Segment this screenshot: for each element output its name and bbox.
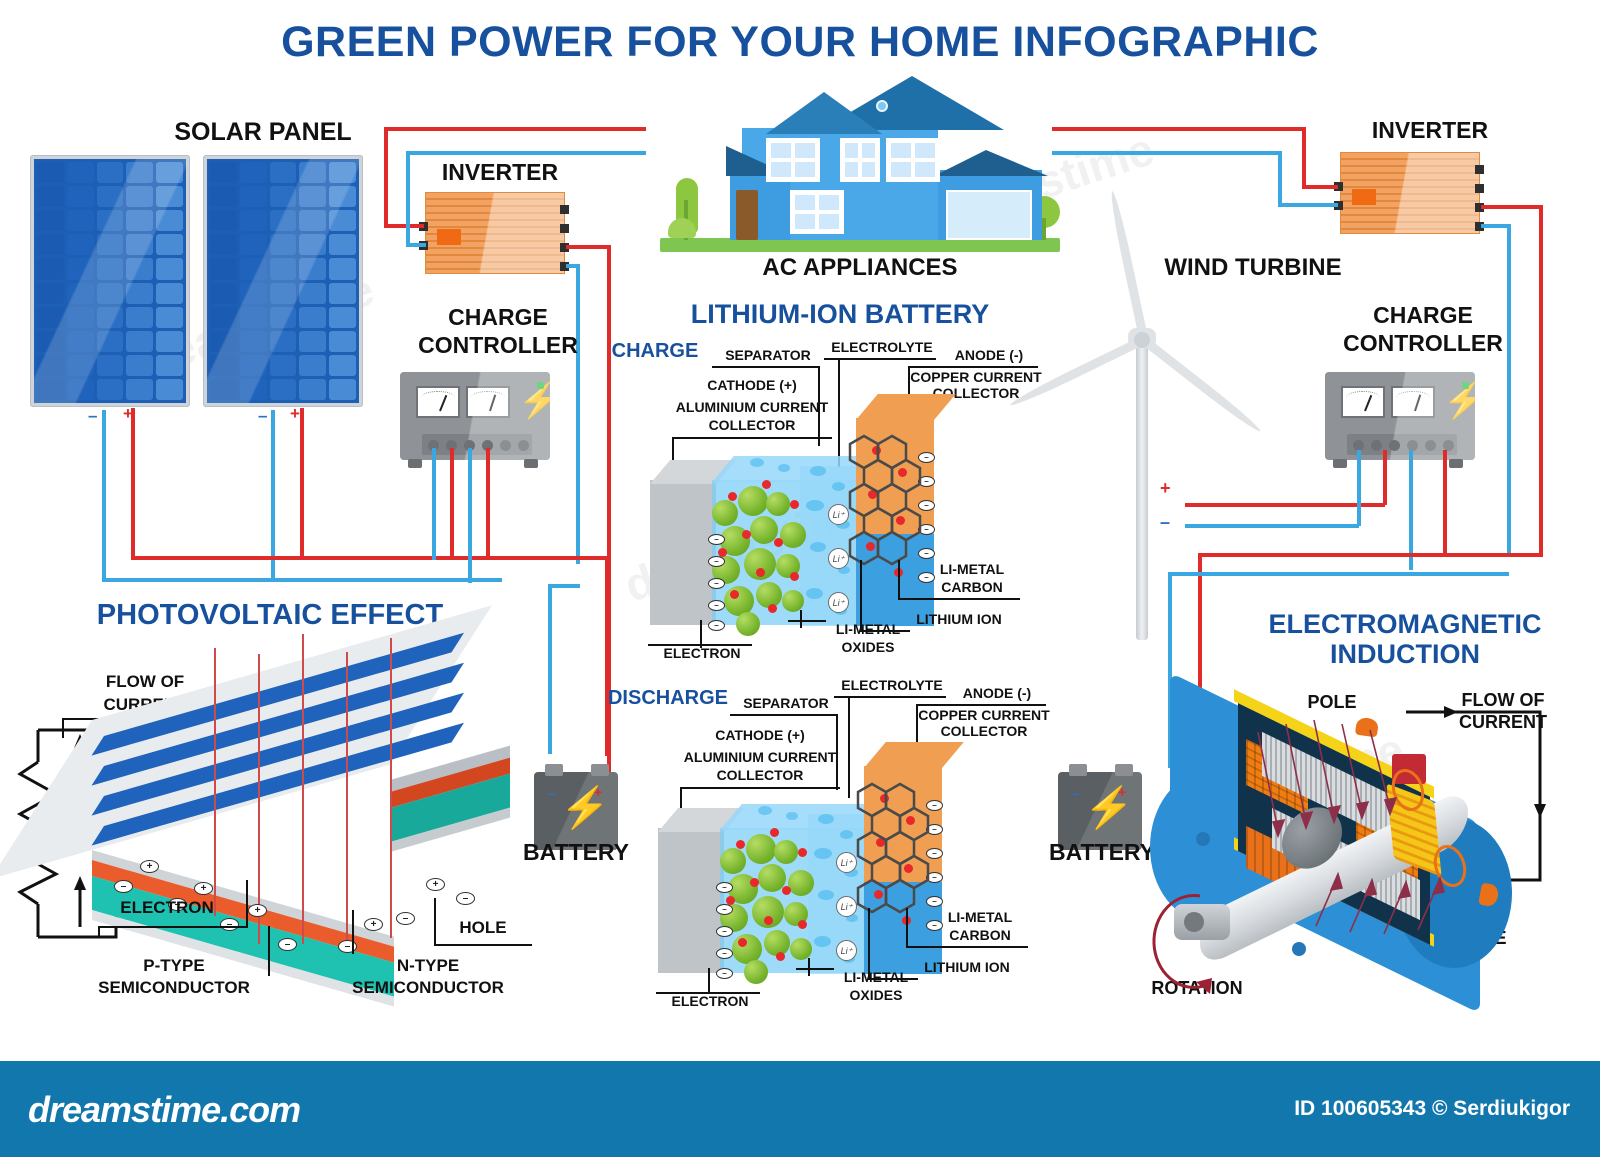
- charge-mode-label: CHARGE: [600, 341, 710, 363]
- controller-foot: [1449, 459, 1463, 468]
- house-lawn: [660, 238, 1060, 252]
- wire-panels-negative-bus: [102, 578, 502, 582]
- lithium-ion-marker: Li⁺: [836, 940, 857, 961]
- pv-electron-label: ELECTRON: [92, 898, 242, 917]
- electron-marker: –: [708, 556, 725, 567]
- house-window: [766, 138, 820, 182]
- turbine-negative-sign: –: [1160, 512, 1170, 533]
- photovoltaic-effect-title: PHOTOVOLTAIC EFFECT: [90, 600, 450, 631]
- hole-carrier: +: [248, 904, 267, 917]
- discharge-limetal-carbon-line1: LI-METAL: [932, 910, 1028, 926]
- hole-carrier: +: [426, 878, 445, 891]
- induction-title-line1: ELECTROMAGNETIC: [1215, 610, 1595, 639]
- right-controller-title-line1: CHARGE: [1318, 303, 1528, 329]
- controller-terminal-screw: [1389, 440, 1400, 451]
- electron-carrier: –: [114, 880, 133, 893]
- photon-ray: [214, 648, 216, 916]
- wire-left-ac-positive-in: [384, 224, 424, 228]
- discharge-aluminium-line1: ALUMINIUM CURRENT: [674, 750, 846, 766]
- discharge-anode-label: ANODE (-): [948, 686, 1046, 702]
- left-controller-title-line1: CHARGE: [398, 305, 598, 331]
- discharge-separator-label: SEPARATOR: [730, 696, 842, 712]
- discharge-electrolyte-label: ELECTROLYTE: [834, 678, 950, 694]
- wire-left-battery-positive-drop: [605, 556, 609, 756]
- pv-n-type-line1: N-TYPE: [338, 956, 518, 975]
- solar-panel-left: [30, 155, 190, 407]
- electron-marker: –: [708, 578, 725, 589]
- wind-turbine-label: WIND TURBINE: [1148, 255, 1358, 282]
- discharge-lithium-ion-label: LITHIUM ION: [910, 960, 1024, 976]
- controller-foot: [1333, 459, 1347, 468]
- wire-left-ac-negative: [406, 151, 646, 155]
- battery-minus-sign: –: [1072, 786, 1079, 801]
- wire-right-ac-positive-drop: [1302, 127, 1306, 185]
- charge-limetal-oxides-line2: OXIDES: [820, 640, 916, 656]
- wire-right-ac-negative: [1052, 151, 1282, 155]
- pv-n-type-line2: SEMICONDUCTOR: [338, 978, 518, 997]
- left-inverter-title: INVERTER: [400, 160, 600, 186]
- house-roof-gable: [766, 92, 882, 134]
- wire-right-controller-out-negative: [1409, 450, 1413, 570]
- electron-carrier: –: [220, 918, 239, 931]
- controller-foot: [408, 459, 422, 468]
- discharge-electron-label: ELECTRON: [656, 994, 764, 1010]
- wire-right-ac-positive: [1052, 127, 1306, 131]
- garage-door: [946, 190, 1032, 240]
- panel-right-plus-terminal: +: [290, 404, 300, 424]
- photon-ray: [346, 652, 348, 952]
- hole-carrier: +: [140, 860, 159, 873]
- inverter-output-pin: [1475, 165, 1484, 174]
- wire-right-controller-out-positive: [1443, 450, 1447, 554]
- panel-right-minus-terminal: –: [258, 406, 267, 426]
- wire-right-ac-negative-in: [1278, 203, 1338, 207]
- controller-foot: [524, 459, 538, 468]
- wire-right-inv-out-red-drop: [1539, 205, 1543, 555]
- left-controller-title-line2: CONTROLLER: [398, 333, 598, 359]
- wire-left-ac-negative-in: [406, 243, 426, 247]
- wire-left-ac-positive-drop: [384, 127, 388, 227]
- wire-panel-right-positive: [300, 408, 304, 558]
- discharge-mode-label: DISCHARGE: [598, 688, 738, 710]
- charge-electron-label: ELECTRON: [648, 646, 756, 662]
- pv-hole-label: HOLE: [438, 918, 528, 937]
- discharge-limetal-carbon-line2: CARBON: [932, 928, 1028, 944]
- controller-terminal-screw: [1371, 440, 1382, 451]
- charge-lithium-ion-label: LITHIUM ION: [902, 612, 1016, 628]
- electron-marker: –: [716, 968, 733, 979]
- magnetic-flux-arrows: [1220, 720, 1520, 950]
- charge-electrolyte-label: ELECTROLYTE: [824, 340, 940, 356]
- wire-right-inv-out-red: [1481, 205, 1543, 209]
- charge-separator-label: SEPARATOR: [712, 348, 824, 364]
- house-door: [736, 190, 758, 240]
- charge-aluminium-line1: ALUMINIUM CURRENT: [666, 400, 838, 416]
- battery-terminal-cap: [1069, 764, 1087, 776]
- electron-marker: –: [716, 948, 733, 959]
- charge-cathode-label: CATHODE (+): [690, 378, 814, 394]
- battery-plus-sign: +: [1118, 784, 1126, 800]
- controller-terminal-screw: [518, 440, 529, 451]
- hole-carrier: +: [364, 918, 383, 931]
- discharge-cathode-label: CATHODE (+): [698, 728, 822, 744]
- pv-p-type-line2: SEMICONDUCTOR: [84, 978, 264, 997]
- photon-ray: [258, 654, 260, 944]
- wire-right-battery-positive-bus: [1198, 553, 1543, 557]
- dreamstime-logo: dreamstime.com: [28, 1089, 300, 1131]
- discharge-copper-collector-line2: COLLECTOR: [916, 724, 1052, 740]
- charge-limetal-carbon-line1: LI-METAL: [924, 562, 1020, 578]
- wire-controller-out-negative: [468, 448, 472, 583]
- electron-marker: –: [716, 882, 733, 893]
- wire-turbine-negative-up: [1357, 450, 1361, 526]
- battery-bolt-icon: ⚡: [1084, 788, 1134, 828]
- tree-trunk: [1042, 218, 1046, 240]
- house-window: [790, 190, 844, 234]
- casing-bolt-icon: [1292, 942, 1306, 956]
- bush-icon: [668, 218, 696, 238]
- generator-cutaway: [1160, 690, 1590, 1000]
- hole-carrier: +: [194, 882, 213, 895]
- wire-left-controller-red-link: [498, 556, 609, 560]
- electron-carrier: –: [338, 940, 357, 953]
- carbon-lattice-icon: [844, 778, 954, 928]
- footer-bar: dreamstime.com ID 100605343 © Serdiukigo…: [0, 1061, 1600, 1157]
- electron-marker: –: [716, 904, 733, 915]
- wire-left-ac-negative-drop: [406, 151, 410, 246]
- right-controller-title-line2: CONTROLLER: [1318, 331, 1528, 357]
- left-inverter-device: [425, 192, 565, 274]
- ac-appliances-label: AC APPLIANCES: [760, 255, 960, 282]
- image-id-text: ID 100605343 © Serdiukigor: [1294, 1097, 1570, 1121]
- electron-marker: –: [708, 534, 725, 545]
- aluminium-collector-face: [658, 828, 724, 973]
- infographic-canvas: dreamstime dreamstime dreamstime dreamst…: [0, 0, 1600, 1157]
- electron-carrier: –: [456, 892, 475, 905]
- battery-terminal-cap: [591, 764, 609, 776]
- battery-plus-sign: +: [594, 784, 602, 800]
- wire-panel-right-negative: [271, 410, 275, 580]
- rotation-arrow-icon: [1142, 886, 1252, 1006]
- electron-carrier: –: [278, 938, 297, 951]
- lithium-ion-marker: Li⁺: [828, 592, 849, 613]
- wire-controller-out-positive: [486, 448, 490, 558]
- solar-panel-right: [203, 155, 363, 407]
- electron-carrier: –: [396, 912, 415, 925]
- house-window: [840, 138, 880, 182]
- pv-p-type-line1: P-TYPE: [84, 956, 264, 975]
- wire-left-battery-negative: [548, 584, 580, 588]
- turbine-positive-sign: +: [1160, 478, 1171, 499]
- house-roof-garage: [934, 150, 1048, 176]
- wind-turbine: [1060, 180, 1260, 640]
- turbine-blade: [1141, 336, 1263, 434]
- page-title: GREEN POWER FOR YOUR HOME INFOGRAPHIC: [0, 18, 1600, 67]
- wire-right-inv-out-blue-drop: [1507, 224, 1511, 554]
- charge-limetal-carbon-line2: CARBON: [924, 580, 1020, 596]
- electron-marker: –: [716, 926, 733, 937]
- wire-left-ac-positive: [384, 127, 646, 131]
- wire-right-ac-negative-drop: [1278, 151, 1282, 205]
- battery-terminal-cap: [1115, 764, 1133, 776]
- copper-collector-top: [864, 742, 964, 768]
- wire-turbine-negative: [1185, 524, 1359, 528]
- casing-bolt-icon: [1196, 832, 1210, 846]
- inverter-indicator-icon: [437, 229, 461, 245]
- solar-cell-grid: [34, 159, 186, 403]
- discharge-limetal-oxides-line2: OXIDES: [828, 988, 924, 1004]
- copper-collector-top: [856, 394, 956, 420]
- attic-vent-icon: [876, 100, 888, 112]
- solar-panel-title: SOLAR PANEL: [128, 118, 398, 146]
- right-inverter-title: INVERTER: [1330, 118, 1530, 144]
- discharge-copper-collector-line1: COPPER CURRENT: [916, 708, 1052, 724]
- wire-left-inv-out-red: [566, 245, 611, 249]
- wire-turbine-positive-up: [1383, 450, 1387, 505]
- panel-left-minus-terminal: –: [88, 406, 97, 426]
- wire-controller-in-positive: [450, 448, 454, 558]
- induction-title-line2: INDUCTION: [1215, 640, 1595, 669]
- wire-controller-in-negative: [432, 448, 436, 560]
- inverter-output-pin: [560, 205, 569, 214]
- photon-ray: [390, 638, 392, 938]
- aluminium-collector-face: [650, 480, 716, 625]
- turbine-tower: [1136, 340, 1148, 640]
- carbon-lattice-icon: [836, 430, 946, 580]
- electron-marker: –: [708, 620, 725, 631]
- photon-ray: [302, 634, 304, 944]
- wire-right-battery-negative-bus: [1168, 572, 1509, 576]
- solar-cell-grid: [207, 159, 359, 403]
- inverter-output-pin: [1475, 184, 1484, 193]
- wire-right-ac-positive-in: [1302, 185, 1338, 189]
- inverter-indicator-icon: [1352, 189, 1376, 205]
- inverter-output-pin: [560, 224, 569, 233]
- charge-anode-label: ANODE (-): [940, 348, 1038, 364]
- wire-panel-left-positive: [131, 408, 135, 558]
- turbine-hub: [1134, 332, 1150, 348]
- controller-terminal-screw: [500, 440, 511, 451]
- house-window: [886, 138, 940, 182]
- controller-terminal-screw: [1425, 440, 1436, 451]
- wire-turbine-positive: [1185, 503, 1385, 507]
- lithium-ion-battery-title: LITHIUM-ION BATTERY: [640, 300, 1040, 329]
- right-inverter-device: [1340, 152, 1480, 234]
- electron-marker: –: [708, 600, 725, 611]
- battery-bolt-icon: ⚡: [560, 788, 610, 828]
- charge-copper-collector-line1: COPPER CURRENT: [908, 370, 1044, 386]
- turbine-blade: [1108, 190, 1148, 339]
- wire-panel-left-negative: [102, 410, 106, 580]
